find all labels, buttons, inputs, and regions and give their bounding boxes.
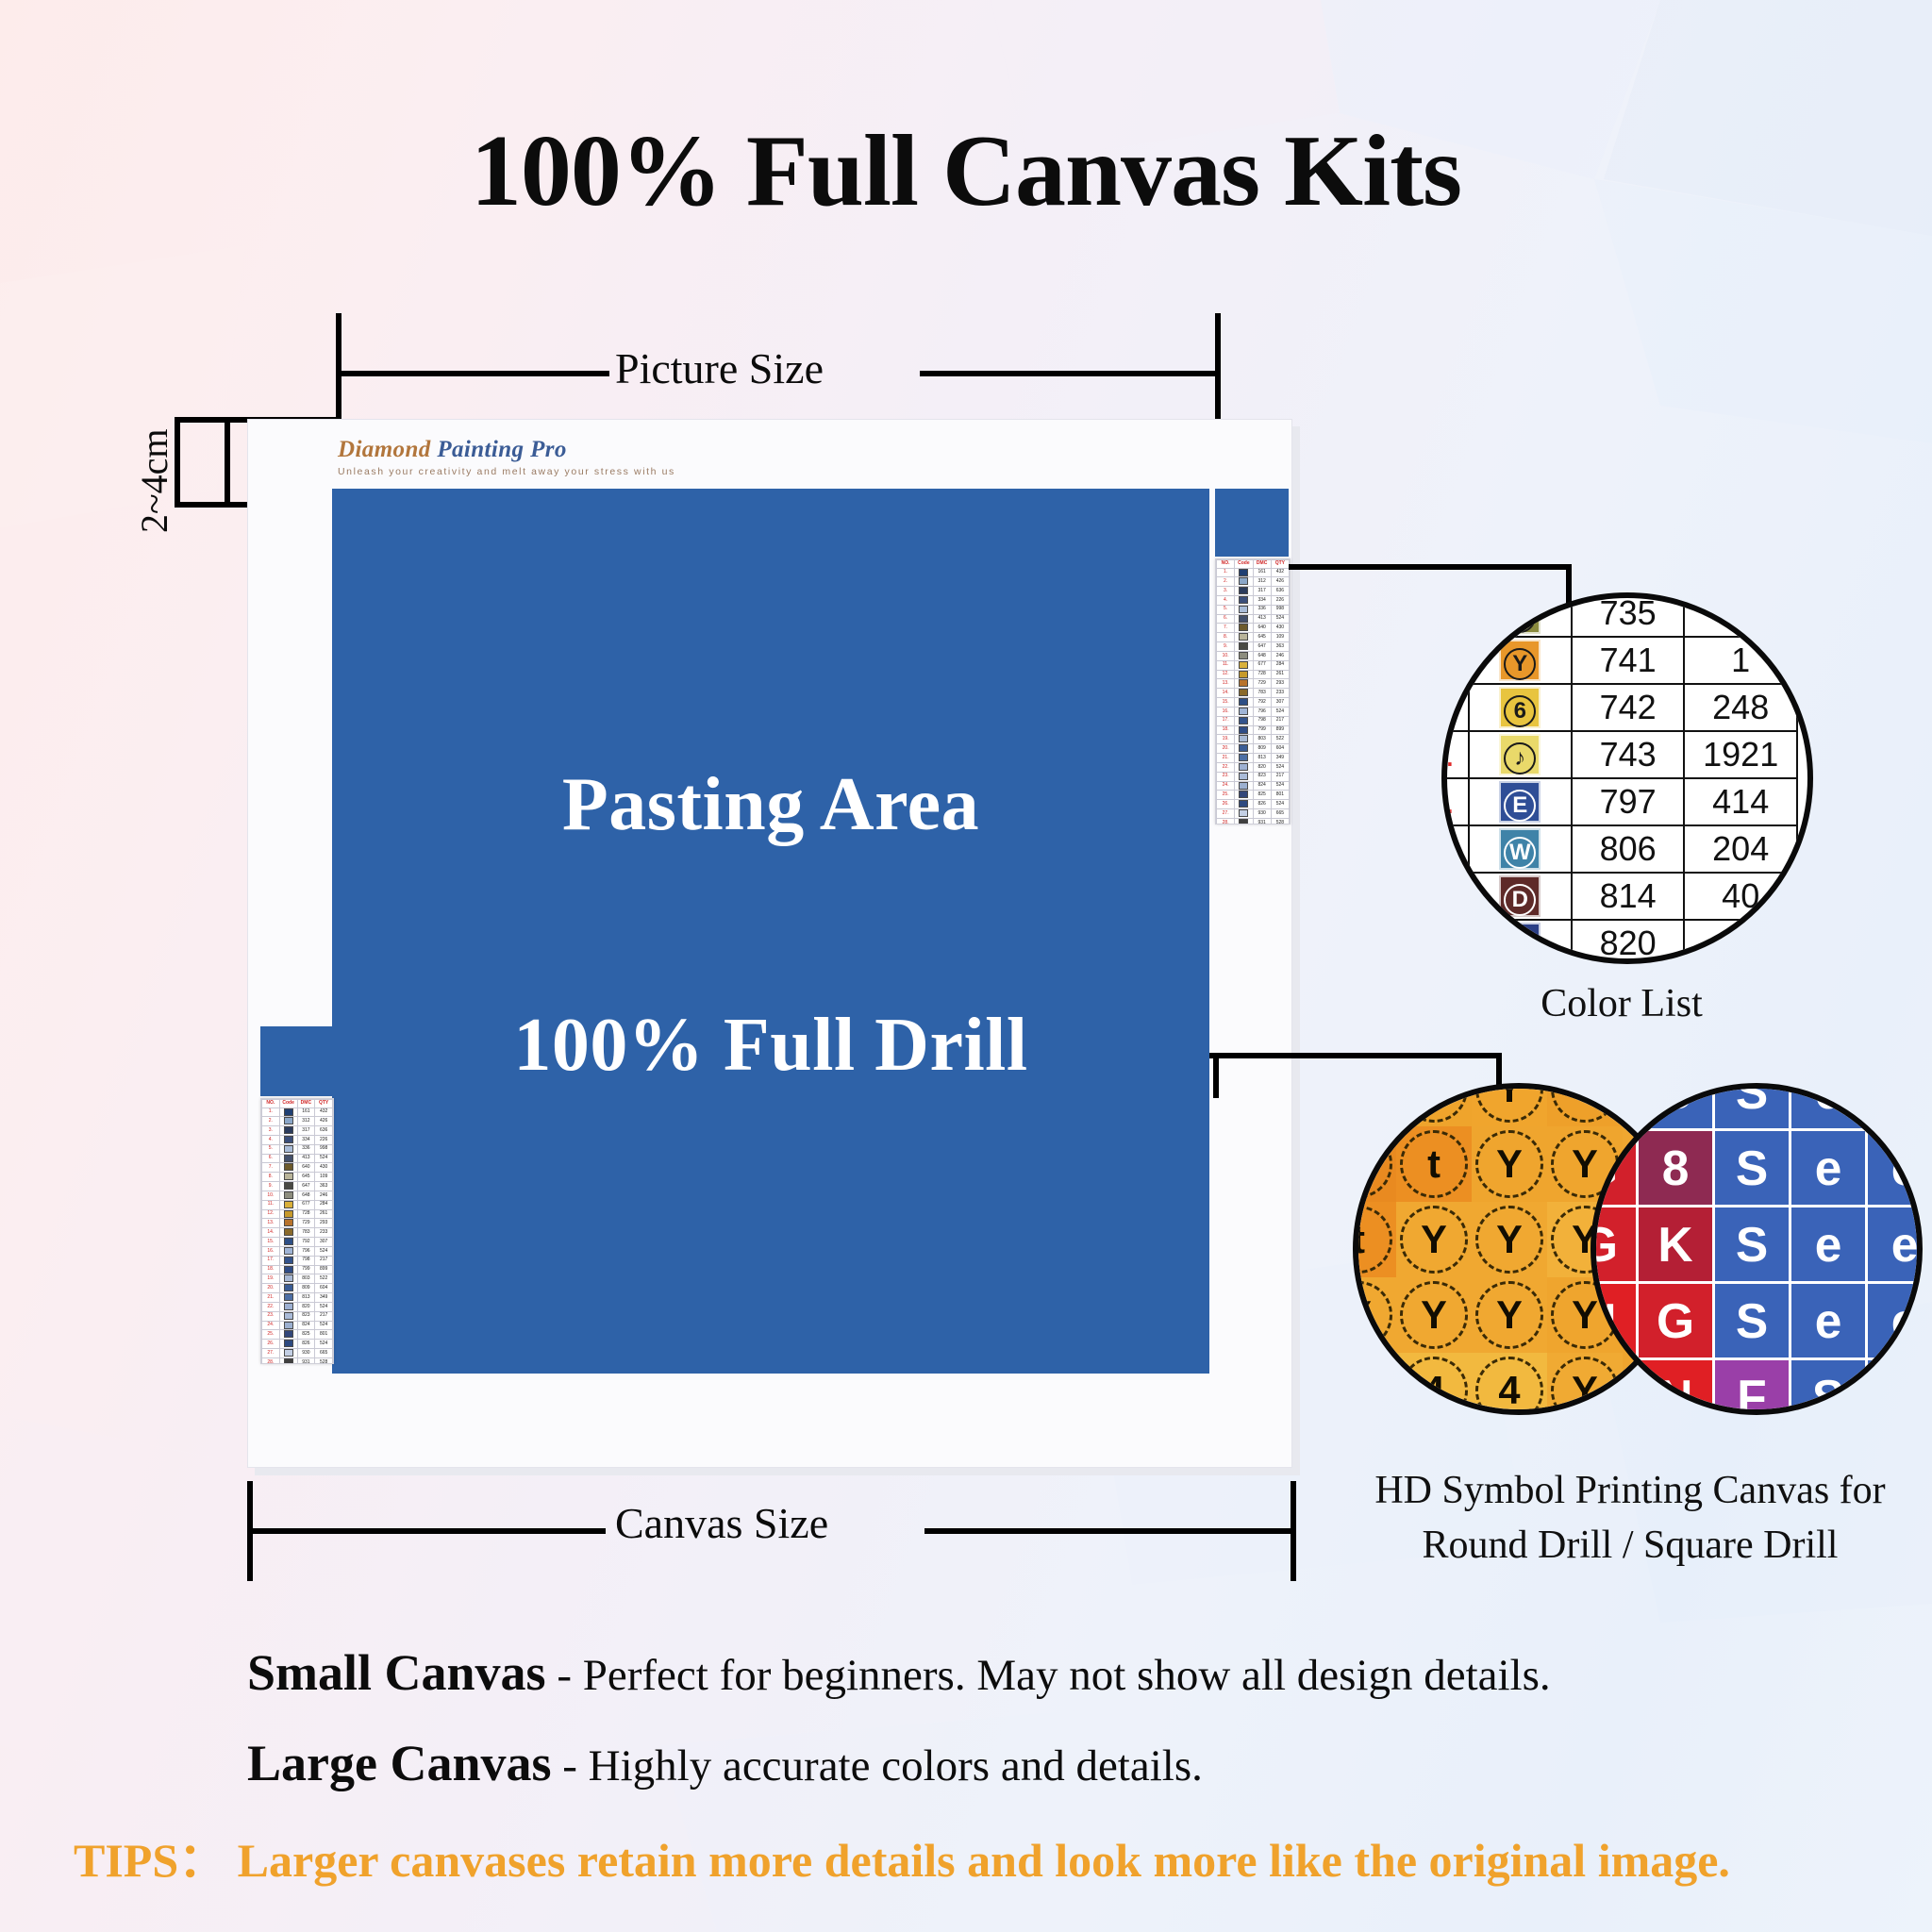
small-canvas-desc: Perfect for beginners. May not show all … (583, 1651, 1551, 1700)
square-drill-cell: e (1868, 1207, 1923, 1281)
strip-cell-qty: 233 (1271, 689, 1289, 698)
canvas-size-rule-right (924, 1528, 1292, 1534)
strip-cell-dmc: 798 (1253, 716, 1271, 725)
strip-header-2: DMC (1253, 560, 1271, 569)
color-list-zoom-symbol-cell: ♪ (1469, 731, 1572, 778)
strip-cell-code (1235, 568, 1253, 577)
color-swatch (284, 1201, 293, 1208)
round-drill-symbol: Y (1400, 1281, 1468, 1349)
canvas-color-strip-left: NO.CodeDMCQTY1.1614322.3124263.3176364.3… (260, 1098, 334, 1364)
strip-cell-code (279, 1357, 297, 1364)
strip-row: 24.824524 (1217, 781, 1290, 791)
strip-row: 5.336998 (262, 1144, 333, 1154)
strip-cell-no: 1. (262, 1108, 280, 1117)
strip-cell-qty: 524 (315, 1154, 333, 1163)
strip-cell-dmc: 798 (297, 1256, 315, 1265)
square-drill-cell: N (1591, 1284, 1636, 1357)
strip-cell-no: 16. (1217, 707, 1235, 716)
strip-cell-no: 25. (262, 1330, 280, 1340)
strip-cell-dmc: 930 (1253, 809, 1271, 819)
strip-cell-code (279, 1256, 297, 1265)
strip-row: 26.826524 (262, 1340, 333, 1349)
strip-cell-no: 10. (262, 1191, 280, 1200)
round-drill-symbol: Y (1400, 1083, 1468, 1123)
round-drill-symbol: Y (1353, 1083, 1392, 1123)
strip-header-3: QTY (315, 1100, 333, 1108)
strip-row: 11.677284 (262, 1200, 333, 1209)
color-list-zoom-row: .★735 (1441, 592, 1797, 637)
strip-cell-dmc: 336 (1253, 605, 1271, 614)
strip-row: 4.334226 (262, 1135, 333, 1144)
strip-cell-no: 14. (262, 1228, 280, 1238)
strip-header-0: NO. (262, 1100, 280, 1108)
square-drill-cell: S (1715, 1131, 1789, 1205)
strip-cell-dmc: 823 (1253, 772, 1271, 781)
round-drill-symbol: Y (1475, 1083, 1543, 1123)
strip-cell-no: 21. (1217, 754, 1235, 763)
strip-header-1: Code (279, 1100, 297, 1108)
strip-cell-dmc: 783 (1253, 689, 1271, 698)
strip-cell-no: 19. (1217, 735, 1235, 744)
round-drill-symbol: Y (1475, 1281, 1543, 1349)
strip-cell-code (279, 1135, 297, 1144)
strip-cell-qty: 246 (1271, 651, 1289, 660)
strip-cell-dmc: 413 (1253, 614, 1271, 624)
round-drill-symbol: Y (1353, 1130, 1392, 1198)
color-list-zoom-qty: 1921 (1684, 731, 1797, 778)
picture-size-label: Picture Size (615, 343, 824, 393)
strip-cell-no: 28. (1217, 818, 1235, 824)
color-swatch (284, 1266, 293, 1274)
color-list-zoom-row: a820 (1441, 920, 1797, 964)
poster-root: 100% Full Canvas Kits Picture Size 2~4cm… (0, 0, 1932, 1932)
color-swatch (284, 1247, 293, 1255)
square-drill-cell: G (1591, 1131, 1636, 1205)
color-list-zoom-symbol: Y (1499, 640, 1541, 681)
strip-cell-dmc: 826 (297, 1340, 315, 1349)
brand-logo-word2: Painting Pro (437, 437, 566, 462)
color-swatch (1239, 717, 1248, 724)
tips-line: TIPS： Larger canvases retain more detail… (74, 1823, 1730, 1890)
strip-cell-code (1235, 624, 1253, 633)
small-canvas-line: Small Canvas - Perfect for beginners. Ma… (247, 1643, 1551, 1702)
color-swatch (284, 1284, 293, 1291)
color-list-zoom-qty: 248 (1684, 684, 1797, 731)
strip-cell-code (279, 1117, 297, 1126)
strip-row: 12.728261 (262, 1209, 333, 1219)
strip-cell-qty: 226 (315, 1135, 333, 1144)
strip-row: 5.336998 (1217, 605, 1290, 614)
strip-row: 27.930665 (1217, 809, 1290, 819)
strip-cell-code (279, 1340, 297, 1349)
strip-cell-dmc: 930 (297, 1349, 315, 1358)
strip-cell-no: 15. (1217, 698, 1235, 708)
strip-cell-dmc: 336 (297, 1144, 315, 1154)
color-swatch (1239, 754, 1248, 761)
strip-row: 17.798217 (1217, 716, 1290, 725)
strip-cell-no: 15. (262, 1238, 280, 1247)
strip-row: 1.161432 (1217, 568, 1290, 577)
strip-row: 25.825801 (262, 1330, 333, 1340)
strip-cell-qty: 217 (315, 1256, 333, 1265)
color-swatch (284, 1210, 293, 1218)
strip-row: 4.334226 (1217, 595, 1290, 605)
strip-cell-no: 6. (262, 1154, 280, 1163)
page-title: 100% Full Canvas Kits (0, 121, 1932, 223)
color-swatch (284, 1312, 293, 1320)
strip-row: 20.809604 (262, 1284, 333, 1293)
color-swatch (284, 1117, 293, 1124)
strip-row: 23.823217 (262, 1311, 333, 1321)
strip-cell-dmc: 823 (297, 1311, 315, 1321)
color-swatch (284, 1358, 293, 1364)
strip-cell-qty: 524 (315, 1302, 333, 1311)
strip-cell-no: 13. (1217, 679, 1235, 689)
strip-cell-qty: 801 (315, 1330, 333, 1340)
strip-cell-dmc: 677 (297, 1200, 315, 1209)
strip-cell-code (279, 1265, 297, 1274)
color-list-zoom-row: 18.D81440 (1441, 873, 1797, 920)
strip-cell-no: 13. (262, 1219, 280, 1228)
brand-logo-word1: Diamond (338, 437, 437, 462)
strip-cell-qty: 432 (315, 1108, 333, 1117)
strip-cell-dmc: 931 (297, 1357, 315, 1364)
color-swatch (284, 1293, 293, 1301)
color-swatch (1239, 577, 1248, 585)
strip-cell-no: 7. (262, 1163, 280, 1173)
round-drill-cell: Y (1472, 1083, 1547, 1126)
strip-cell-qty: 522 (315, 1274, 333, 1284)
callout-leader-hd-v2 (1213, 1053, 1219, 1098)
color-swatch (1239, 661, 1248, 669)
strip-cell-qty: 307 (1271, 698, 1289, 708)
strip-cell-no: 1. (1217, 568, 1235, 577)
strip-cell-dmc: 334 (297, 1135, 315, 1144)
color-list-zoom-dmc: 806 (1572, 825, 1685, 873)
color-swatch (284, 1182, 293, 1190)
color-swatch (1239, 624, 1248, 631)
strip-cell-code (279, 1311, 297, 1321)
strip-cell-no: 11. (262, 1200, 280, 1209)
strip-cell-dmc: 931 (1253, 818, 1271, 824)
strip-cell-no: 27. (262, 1349, 280, 1358)
color-swatch (1239, 642, 1248, 650)
strip-cell-qty: 307 (315, 1238, 333, 1247)
color-swatch (284, 1163, 293, 1171)
strip-cell-code (279, 1154, 297, 1163)
round-drill-cell: Y (1353, 1353, 1396, 1415)
strip-cell-no: 23. (1217, 772, 1235, 781)
strip-cell-dmc: 813 (297, 1293, 315, 1303)
strip-cell-code (279, 1293, 297, 1303)
strip-cell-no: 10. (1217, 651, 1235, 660)
strip-cell-code (1235, 725, 1253, 735)
strip-cell-dmc: 647 (1253, 642, 1271, 652)
color-list-zoom-dmc: 814 (1572, 873, 1685, 920)
square-drill-cell: e (1868, 1284, 1923, 1357)
strip-cell-qty: 284 (315, 1200, 333, 1209)
strip-cell-qty: 261 (1271, 670, 1289, 679)
strip-cell-qty: 998 (315, 1144, 333, 1154)
color-swatch (1239, 569, 1248, 576)
strip-cell-qty: 665 (315, 1349, 333, 1358)
color-list-zoom-symbol: ★ (1499, 592, 1541, 634)
strip-row: 12.728261 (1217, 670, 1290, 679)
strip-cell-no: 24. (262, 1321, 280, 1330)
strip-row: 24.824524 (262, 1321, 333, 1330)
color-list-zoom-qty: 414 (1684, 778, 1797, 825)
color-swatch (1239, 671, 1248, 678)
strip-cell-code (279, 1284, 297, 1293)
strip-cell-code (1235, 587, 1253, 596)
round-drill-symbol: Y (1475, 1130, 1543, 1198)
strip-cell-dmc: 161 (1253, 568, 1271, 577)
strip-cell-no: 3. (1217, 587, 1235, 596)
color-swatch (1239, 689, 1248, 696)
strip-cell-dmc: 729 (297, 1219, 315, 1228)
strip-row: 18.799899 (262, 1265, 333, 1274)
strip-cell-code (1235, 800, 1253, 809)
strip-header-row: NO.CodeDMCQTY (1217, 560, 1290, 569)
strip-cell-code (1235, 595, 1253, 605)
color-swatch (284, 1173, 293, 1180)
color-swatch (1239, 679, 1248, 687)
strip-cell-qty: 217 (1271, 716, 1289, 725)
strip-cell-no: 4. (1217, 595, 1235, 605)
color-list-zoom-symbol-cell: a (1469, 920, 1572, 964)
strip-cell-qty: 432 (1271, 568, 1289, 577)
strip-cell-no: 22. (262, 1302, 280, 1311)
round-drill-symbol: 4 (1475, 1357, 1543, 1415)
strip-row: 1.161432 (262, 1108, 333, 1117)
color-list-zoom-qty (1684, 920, 1797, 964)
color-list-zoom-qty: 1 (1684, 637, 1797, 684)
strip-cell-dmc: 640 (1253, 624, 1271, 633)
strip-row: 7.640430 (1217, 624, 1290, 633)
strip-cell-dmc: 796 (297, 1246, 315, 1256)
strip-header-row: NO.CodeDMCQTY (262, 1100, 333, 1108)
strip-cell-dmc: 792 (297, 1238, 315, 1247)
strip-cell-qty: 665 (1271, 809, 1289, 819)
strip-cell-no: 21. (262, 1293, 280, 1303)
strip-row: 27.930665 (262, 1349, 333, 1358)
hd-caption-line1: HD Symbol Printing Canvas for (1158, 1464, 1932, 1518)
strip-cell-no: 5. (1217, 605, 1235, 614)
strip-cell-no: 18. (1217, 725, 1235, 735)
strip-cell-dmc: 317 (297, 1126, 315, 1136)
strip-row: 14.783233 (262, 1228, 333, 1238)
strip-header-0: NO. (1217, 560, 1235, 569)
color-swatch (1239, 615, 1248, 623)
strip-cell-dmc: 317 (1253, 587, 1271, 596)
color-swatch (284, 1191, 293, 1199)
strip-cell-dmc: 729 (1253, 679, 1271, 689)
strip-row: 2.312426 (262, 1117, 333, 1126)
color-swatch (1239, 596, 1248, 604)
strip-cell-qty: 522 (1271, 735, 1289, 744)
strip-row: 19.803522 (1217, 735, 1290, 744)
strip-cell-dmc: 783 (297, 1228, 315, 1238)
strip-cell-code (279, 1228, 297, 1238)
square-drill-cell: S (1639, 1083, 1712, 1128)
strip-row: 6.413524 (1217, 614, 1290, 624)
strip-cell-dmc: 803 (1253, 735, 1271, 744)
round-drill-cell: Y (1396, 1277, 1472, 1353)
strip-cell-dmc: 728 (297, 1209, 315, 1219)
strip-cell-code (1235, 679, 1253, 689)
strip-row: 21.813349 (262, 1293, 333, 1303)
strip-cell-no: 22. (1217, 762, 1235, 772)
color-list-zoom-row: 16.E797414 (1441, 778, 1797, 825)
strip-row: 26.826524 (1217, 800, 1290, 809)
strip-cell-code (279, 1238, 297, 1247)
color-list-zoom-symbol: a (1499, 923, 1541, 964)
square-drill-cell: K (1639, 1207, 1712, 1281)
strip-cell-qty: 426 (315, 1117, 333, 1126)
strip-row: 13.729293 (1217, 679, 1290, 689)
strip-row: 15.792307 (1217, 698, 1290, 708)
strip-cell-dmc: 803 (297, 1274, 315, 1284)
strip-cell-code (279, 1246, 297, 1256)
strip-cell-no: 20. (262, 1284, 280, 1293)
strip-cell-no: 25. (1217, 791, 1235, 800)
color-swatch (284, 1126, 293, 1134)
strip-cell-code (1235, 754, 1253, 763)
strip-cell-dmc: 413 (297, 1154, 315, 1163)
color-swatch (284, 1228, 293, 1236)
strip-cell-qty: 528 (315, 1357, 333, 1364)
strip-cell-no: 2. (262, 1117, 280, 1126)
color-list-zoom-dmc: 797 (1572, 778, 1685, 825)
strip-cell-qty: 899 (315, 1265, 333, 1274)
strip-cell-qty: 349 (315, 1293, 333, 1303)
square-drill-cell: e (1791, 1207, 1865, 1281)
hd-caption-line2: Round Drill / Square Drill (1158, 1519, 1932, 1573)
color-swatch (284, 1155, 293, 1162)
strip-cell-dmc: 796 (1253, 707, 1271, 716)
strip-cell-dmc: 809 (297, 1284, 315, 1293)
round-drill-cell: Y (1472, 1126, 1547, 1202)
margin-label: 2~4cm (132, 428, 176, 533)
strip-cell-qty: 217 (1271, 772, 1289, 781)
strip-cell-qty: 217 (315, 1311, 333, 1321)
square-drill-cell: e (1791, 1131, 1865, 1205)
strip-cell-code (1235, 762, 1253, 772)
round-drill-symbol: Y (1353, 1357, 1392, 1415)
strip-row: 8.645109 (262, 1173, 333, 1182)
strip-cell-no: 26. (1217, 800, 1235, 809)
square-drill-cell: e (1791, 1284, 1865, 1357)
strip-cell-code (279, 1126, 297, 1136)
strip-cell-dmc: 645 (297, 1173, 315, 1182)
color-list-zoom-symbol-cell: 6 (1469, 684, 1572, 731)
round-drill-cell: Y (1396, 1083, 1472, 1126)
color-swatch (1239, 819, 1248, 824)
strip-row: 18.799899 (1217, 725, 1290, 735)
strip-cell-code (279, 1349, 297, 1358)
square-drill-cell: 8 (1639, 1131, 1712, 1205)
strip-cell-code (279, 1191, 297, 1200)
strip-cell-dmc: 648 (1253, 651, 1271, 660)
strip-cell-no: 9. (262, 1182, 280, 1191)
strip-row: 11.677284 (1217, 660, 1290, 670)
strip-cell-code (279, 1200, 297, 1209)
strip-cell-qty: 349 (1271, 754, 1289, 763)
strip-cell-code (1235, 698, 1253, 708)
large-canvas-desc: Highly accurate colors and details. (589, 1741, 1203, 1790)
strip-cell-qty: 604 (315, 1284, 333, 1293)
small-canvas-label: Small Canvas (247, 1644, 546, 1701)
strip-cell-qty: 233 (315, 1228, 333, 1238)
square-drill-cell: S (1715, 1284, 1789, 1357)
round-drill-cell: Y (1472, 1202, 1547, 1277)
color-swatch (1239, 698, 1248, 706)
strip-cell-dmc: 825 (297, 1330, 315, 1340)
strip-cell-no: 16. (262, 1246, 280, 1256)
picture-size-rule-right (920, 371, 1217, 376)
color-swatch (1239, 708, 1248, 715)
square-drill-cell: e (1868, 1360, 1923, 1415)
square-drill-cell: G (1591, 1207, 1636, 1281)
strip-cell-qty: 246 (315, 1191, 333, 1200)
strip-cell-code (279, 1321, 297, 1330)
color-swatch (1239, 587, 1248, 594)
strip-row: 6.413524 (262, 1154, 333, 1163)
strip-cell-qty: 524 (315, 1321, 333, 1330)
brand-logo: Diamond Painting Pro Unleash your creati… (338, 437, 675, 477)
strip-cell-dmc: 799 (1253, 725, 1271, 735)
strip-cell-no: 8. (1217, 633, 1235, 642)
color-list-zoom-dmc: 743 (1572, 731, 1685, 778)
strip-cell-no: 8. (262, 1173, 280, 1182)
strip-row: 8.645109 (1217, 633, 1290, 642)
strip-cell-qty: 524 (1271, 762, 1289, 772)
strip-cell-code (1235, 809, 1253, 819)
strip-cell-dmc: 648 (297, 1191, 315, 1200)
strip-cell-no: 28. (262, 1357, 280, 1364)
strip-row: 3.317636 (1217, 587, 1290, 596)
strip-cell-qty: 998 (1271, 605, 1289, 614)
color-list-zoom-symbol-cell: E (1469, 778, 1572, 825)
strip-cell-code (1235, 651, 1253, 660)
strip-cell-qty: 528 (1271, 818, 1289, 824)
color-swatch (1239, 744, 1248, 752)
strip-cell-qty: 524 (1271, 800, 1289, 809)
strip-cell-qty: 293 (1271, 679, 1289, 689)
color-list-zoom-symbol-cell: D (1469, 873, 1572, 920)
color-swatch (284, 1238, 293, 1245)
color-list-zoom-symbol-cell: ★ (1469, 592, 1572, 637)
color-list-zoom-symbol-cell: W (1469, 825, 1572, 873)
large-canvas-dash: - (552, 1741, 589, 1790)
pasting-area: Pasting Area 100% Full Drill (332, 489, 1209, 1374)
brand-logo-text: Diamond Painting Pro (338, 437, 675, 463)
color-swatch (1239, 782, 1248, 790)
strip-row: 9.647363 (262, 1182, 333, 1191)
strip-row: 9.647363 (1217, 642, 1290, 652)
strip-cell-no: 19. (262, 1274, 280, 1284)
strip-cell-no: 17. (262, 1256, 280, 1265)
strip-cell-dmc: 677 (1253, 660, 1271, 670)
strip-cell-qty: 524 (315, 1246, 333, 1256)
strip-row: 15.792307 (262, 1238, 333, 1247)
strip-cell-qty: 604 (1271, 744, 1289, 754)
round-drill-symbol: 4 (1400, 1357, 1468, 1415)
color-swatch (284, 1303, 293, 1310)
canvas-tab-bottom-left (260, 1026, 332, 1096)
strip-cell-qty: 801 (1271, 791, 1289, 800)
strip-cell-qty: 261 (315, 1209, 333, 1219)
